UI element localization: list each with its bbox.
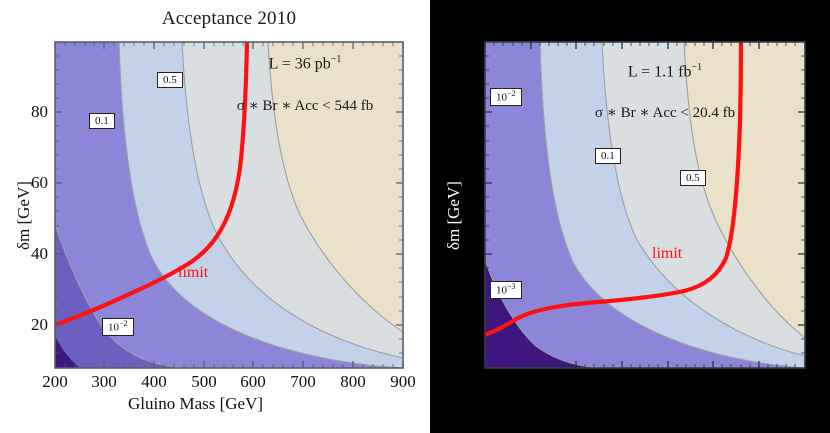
contour-label-1e-2-right-exp: −2: [507, 89, 516, 98]
contour-label-1e-3-right: 10−3: [490, 281, 522, 299]
contour-label-1e-2-right-text: 10: [496, 92, 507, 104]
figure-root: Acceptance 2010: [0, 0, 830, 433]
annotation-luminosity-right-exp: −1: [691, 62, 702, 73]
limit-text-right: limit: [652, 245, 712, 263]
xtick-label-700: 700: [283, 372, 323, 392]
xtick-label-900: 900: [383, 372, 423, 392]
annotation-limit-left: σ ∗ Br ∗ Acc < 544 fb: [205, 96, 405, 115]
xtick-label-800: 800: [333, 372, 373, 392]
panel-left: Acceptance 2010: [0, 0, 430, 433]
xtick-label-200: 200: [35, 372, 75, 392]
annotation-limit-right: σ ∗ Br ∗ Acc < 20.4 fb: [555, 103, 775, 122]
contour-label-1e-2-left-text: 10: [108, 322, 119, 334]
page-title: Acceptance 2010: [55, 8, 403, 30]
xtick-label-600: 600: [233, 372, 273, 392]
x-axis-title-left: Gluino Mass [GeV]: [128, 394, 263, 414]
contour-label-0p5-right: 0.5: [680, 170, 706, 186]
annotation-luminosity-right: L = 1.1 fb−1: [570, 62, 760, 81]
xtick-label-400: 400: [134, 372, 174, 392]
annotation-luminosity-left-text: L = 36 pb: [269, 55, 331, 72]
contour-label-0p5-right-text: 0.5: [686, 172, 700, 184]
xtick-label-300: 300: [84, 372, 124, 392]
contour-label-0p1-left: 0.1: [89, 113, 115, 129]
y-axis-title-right: δm [GeV]: [444, 181, 464, 250]
xtick-label-500: 500: [184, 372, 224, 392]
ytick-label-20: 20: [18, 315, 48, 335]
ytick-label-80: 80: [18, 102, 48, 122]
contour-label-0p5-left: 0.5: [157, 72, 183, 88]
contour-label-0p1-left-text: 0.1: [95, 115, 109, 127]
panel-right: δm [GeV] L = 1.1 fb−1 σ ∗ Br ∗ Acc < 20.…: [430, 0, 830, 433]
contour-label-0p5-left-text: 0.5: [163, 74, 177, 86]
y-axis-title-left: δm [GeV]: [14, 181, 34, 250]
contour-label-0p1-right: 0.1: [595, 148, 621, 164]
contour-label-0p1-right-text: 0.1: [601, 150, 615, 162]
contour-label-1e-2-right: 10−2: [490, 88, 522, 106]
annotation-luminosity-left: L = 36 pb−1: [210, 54, 400, 73]
limit-text-left: limit: [178, 264, 238, 282]
contour-label-1e-2-left-exp: −2: [119, 319, 128, 328]
annotation-luminosity-left-exp: −1: [331, 54, 342, 65]
contour-label-1e-3-right-text: 10: [496, 285, 507, 297]
contour-label-1e-2-left: 10−2: [102, 318, 134, 336]
contour-label-1e-3-right-exp: −3: [507, 282, 516, 291]
annotation-luminosity-right-text: L = 1.1 fb: [628, 63, 692, 80]
